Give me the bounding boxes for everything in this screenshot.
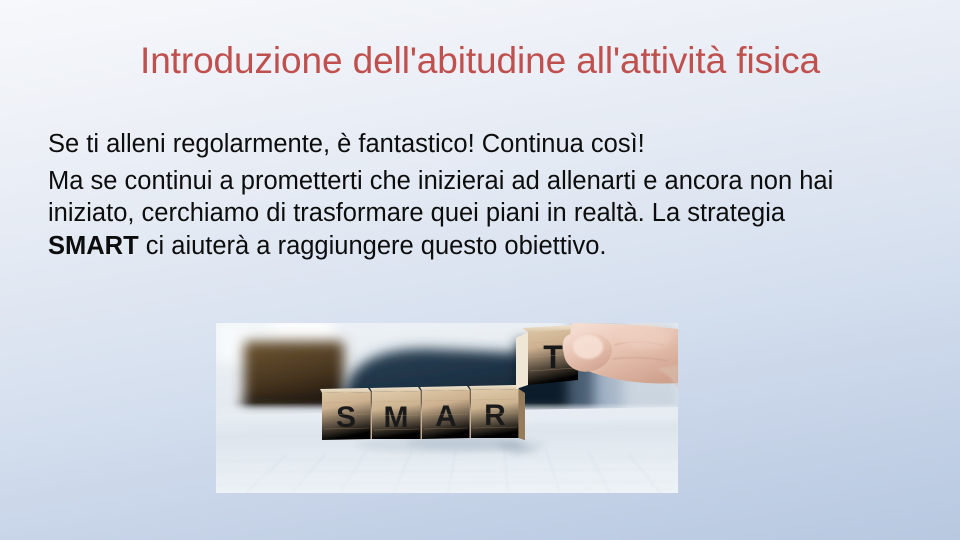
smart-keyword: SMART bbox=[48, 232, 139, 260]
block-R: R bbox=[469, 385, 525, 440]
slide-canvas: Introduzione dell'abitudine all'attività… bbox=[0, 0, 960, 540]
block-M: M bbox=[370, 387, 421, 439]
body-text-block: Se ti alleni regolarmente, è fantastico!… bbox=[48, 128, 928, 267]
body-paragraph-1: Se ti alleni regolarmente, è fantastico!… bbox=[48, 128, 928, 161]
block-A: A bbox=[420, 386, 470, 439]
smart-blocks-photo: S M A R bbox=[216, 323, 678, 493]
body-paragraph-2-text-after: ci aiuterà a raggiungere questo obiettiv… bbox=[139, 232, 607, 260]
page-title: Introduzione dell'abitudine all'attività… bbox=[60, 40, 900, 83]
svg-text:R: R bbox=[484, 399, 506, 432]
body-paragraph-2: Ma se continui a prometterti che inizier… bbox=[48, 165, 880, 263]
svg-text:M: M bbox=[384, 401, 409, 434]
svg-text:S: S bbox=[336, 401, 356, 434]
svg-text:A: A bbox=[435, 400, 457, 433]
body-paragraph-2-text-before: Ma se continui a prometterti che inizier… bbox=[48, 167, 833, 228]
